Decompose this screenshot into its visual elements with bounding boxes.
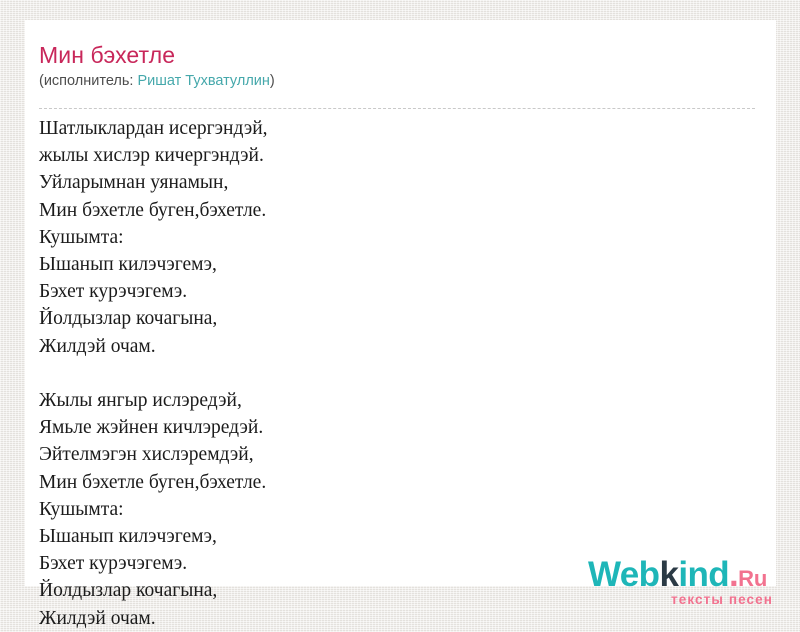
site-logo-wordmark: Webkind.Ru — [588, 558, 778, 596]
performer-line: (исполнитель: Ришат Тухватуллин) — [39, 72, 757, 90]
logo-text-web: Web — [588, 555, 659, 594]
logo-text-ru: Ru — [738, 566, 767, 591]
performer-link[interactable]: Ришат Тухватуллин — [137, 73, 269, 89]
page-root: Мин бэхетле (исполнитель: Ришат Тухватул… — [0, 0, 800, 609]
logo-text-ind: ind — [678, 555, 729, 594]
logo-text-k: k — [659, 555, 678, 594]
page-title: Мин бэхетле — [39, 42, 757, 68]
song-header: Мин бэхетле (исполнитель: Ришат Тухватул… — [39, 42, 757, 90]
logo-text-dot: . — [729, 555, 738, 594]
performer-suffix-text: ) — [270, 73, 275, 89]
lyrics-content-card: Мин бэхетле (исполнитель: Ришат Тухватул… — [25, 20, 776, 586]
performer-prefix-text: (исполнитель: — [39, 73, 137, 89]
site-logo[interactable]: Webkind.Ru тексты песен — [588, 558, 778, 604]
header-divider — [39, 108, 755, 109]
